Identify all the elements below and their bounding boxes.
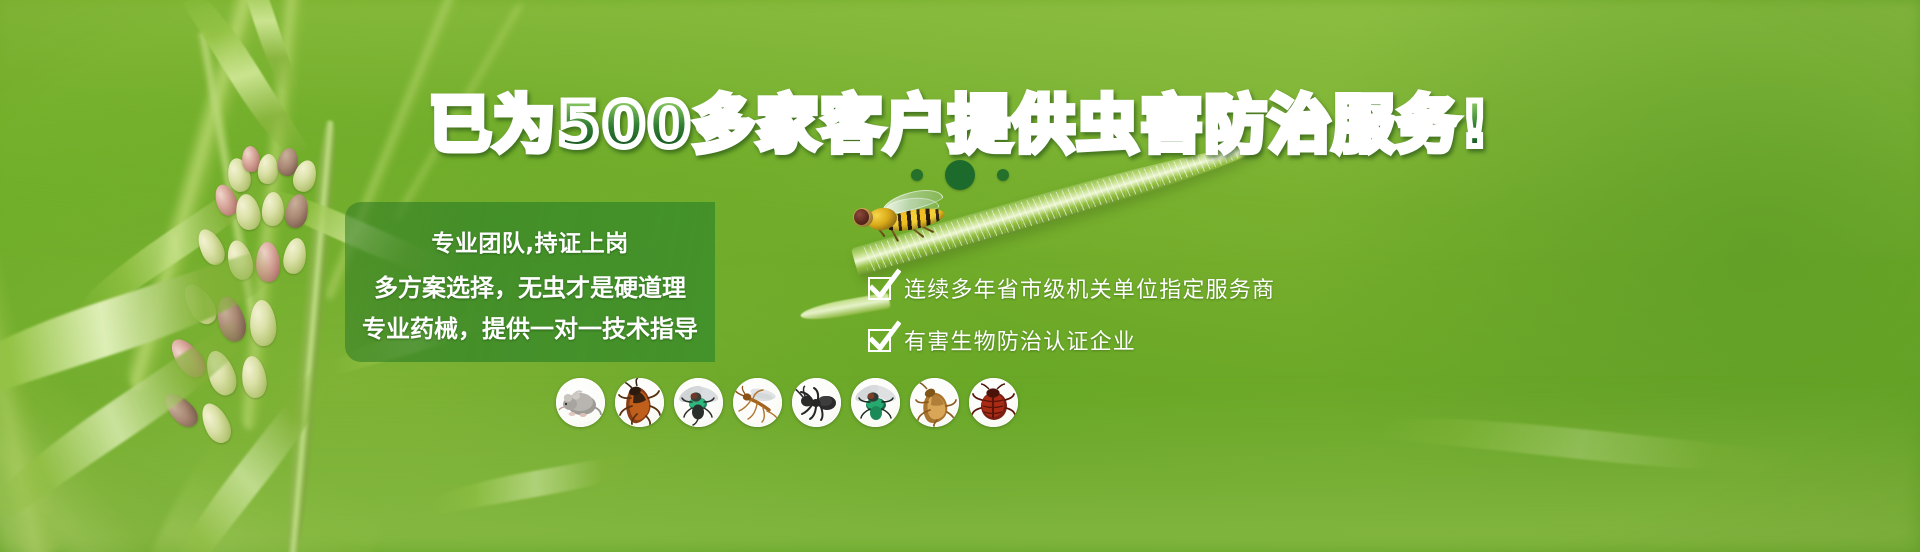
banner-headline: 已为500多家客户提供虫害防治服务! 已为500多家客户提供虫害防治服务! <box>0 74 1920 164</box>
selling-points-panel: 专业团队,持证上岗 多方案选择，无虫才是硬道理 专业药械，提供一对一技术指导 <box>345 202 715 362</box>
checkbox-checked-icon <box>868 329 891 352</box>
greenfly-icon <box>851 378 900 427</box>
decor-dot-small-left <box>911 169 923 181</box>
flea-icon <box>910 378 959 427</box>
decor-dot-small-right <box>997 169 1009 181</box>
checkbox-checked-icon <box>868 277 891 300</box>
selling-point-line-3: 专业药械，提供一对一技术指导 <box>362 309 698 344</box>
decor-dot-large-center <box>945 160 975 190</box>
rat-icon <box>556 378 605 427</box>
headline-text: 已为500多家客户提供虫害防治服务! <box>429 74 1491 164</box>
pest-control-promo-banner: 已为500多家客户提供虫害防治服务! 已为500多家客户提供虫害防治服务! 专业… <box>0 0 1920 552</box>
selling-point-line-1: 专业团队,持证上岗 <box>431 224 628 258</box>
hoverfly-on-leaf <box>845 196 957 252</box>
bedbug-icon <box>969 378 1018 427</box>
credential-text: 连续多年省市级机关单位指定服务商 <box>904 272 1275 304</box>
headline-decor-dots <box>0 160 1920 190</box>
ant-icon <box>792 378 841 427</box>
selling-point-line-2: 多方案选择，无虫才是硬道理 <box>374 268 686 303</box>
credential-row: 有害生物防治认证企业 <box>868 324 1275 356</box>
housefly-icon <box>674 378 723 427</box>
pest-types-icon-row <box>556 378 1018 427</box>
credentials-checklist: 连续多年省市级机关单位指定服务商 有害生物防治认证企业 <box>868 272 1275 356</box>
mosquito-icon <box>733 378 782 427</box>
credential-row: 连续多年省市级机关单位指定服务商 <box>868 272 1275 304</box>
cockroach-icon <box>615 378 664 427</box>
credential-text: 有害生物防治认证企业 <box>904 324 1136 356</box>
